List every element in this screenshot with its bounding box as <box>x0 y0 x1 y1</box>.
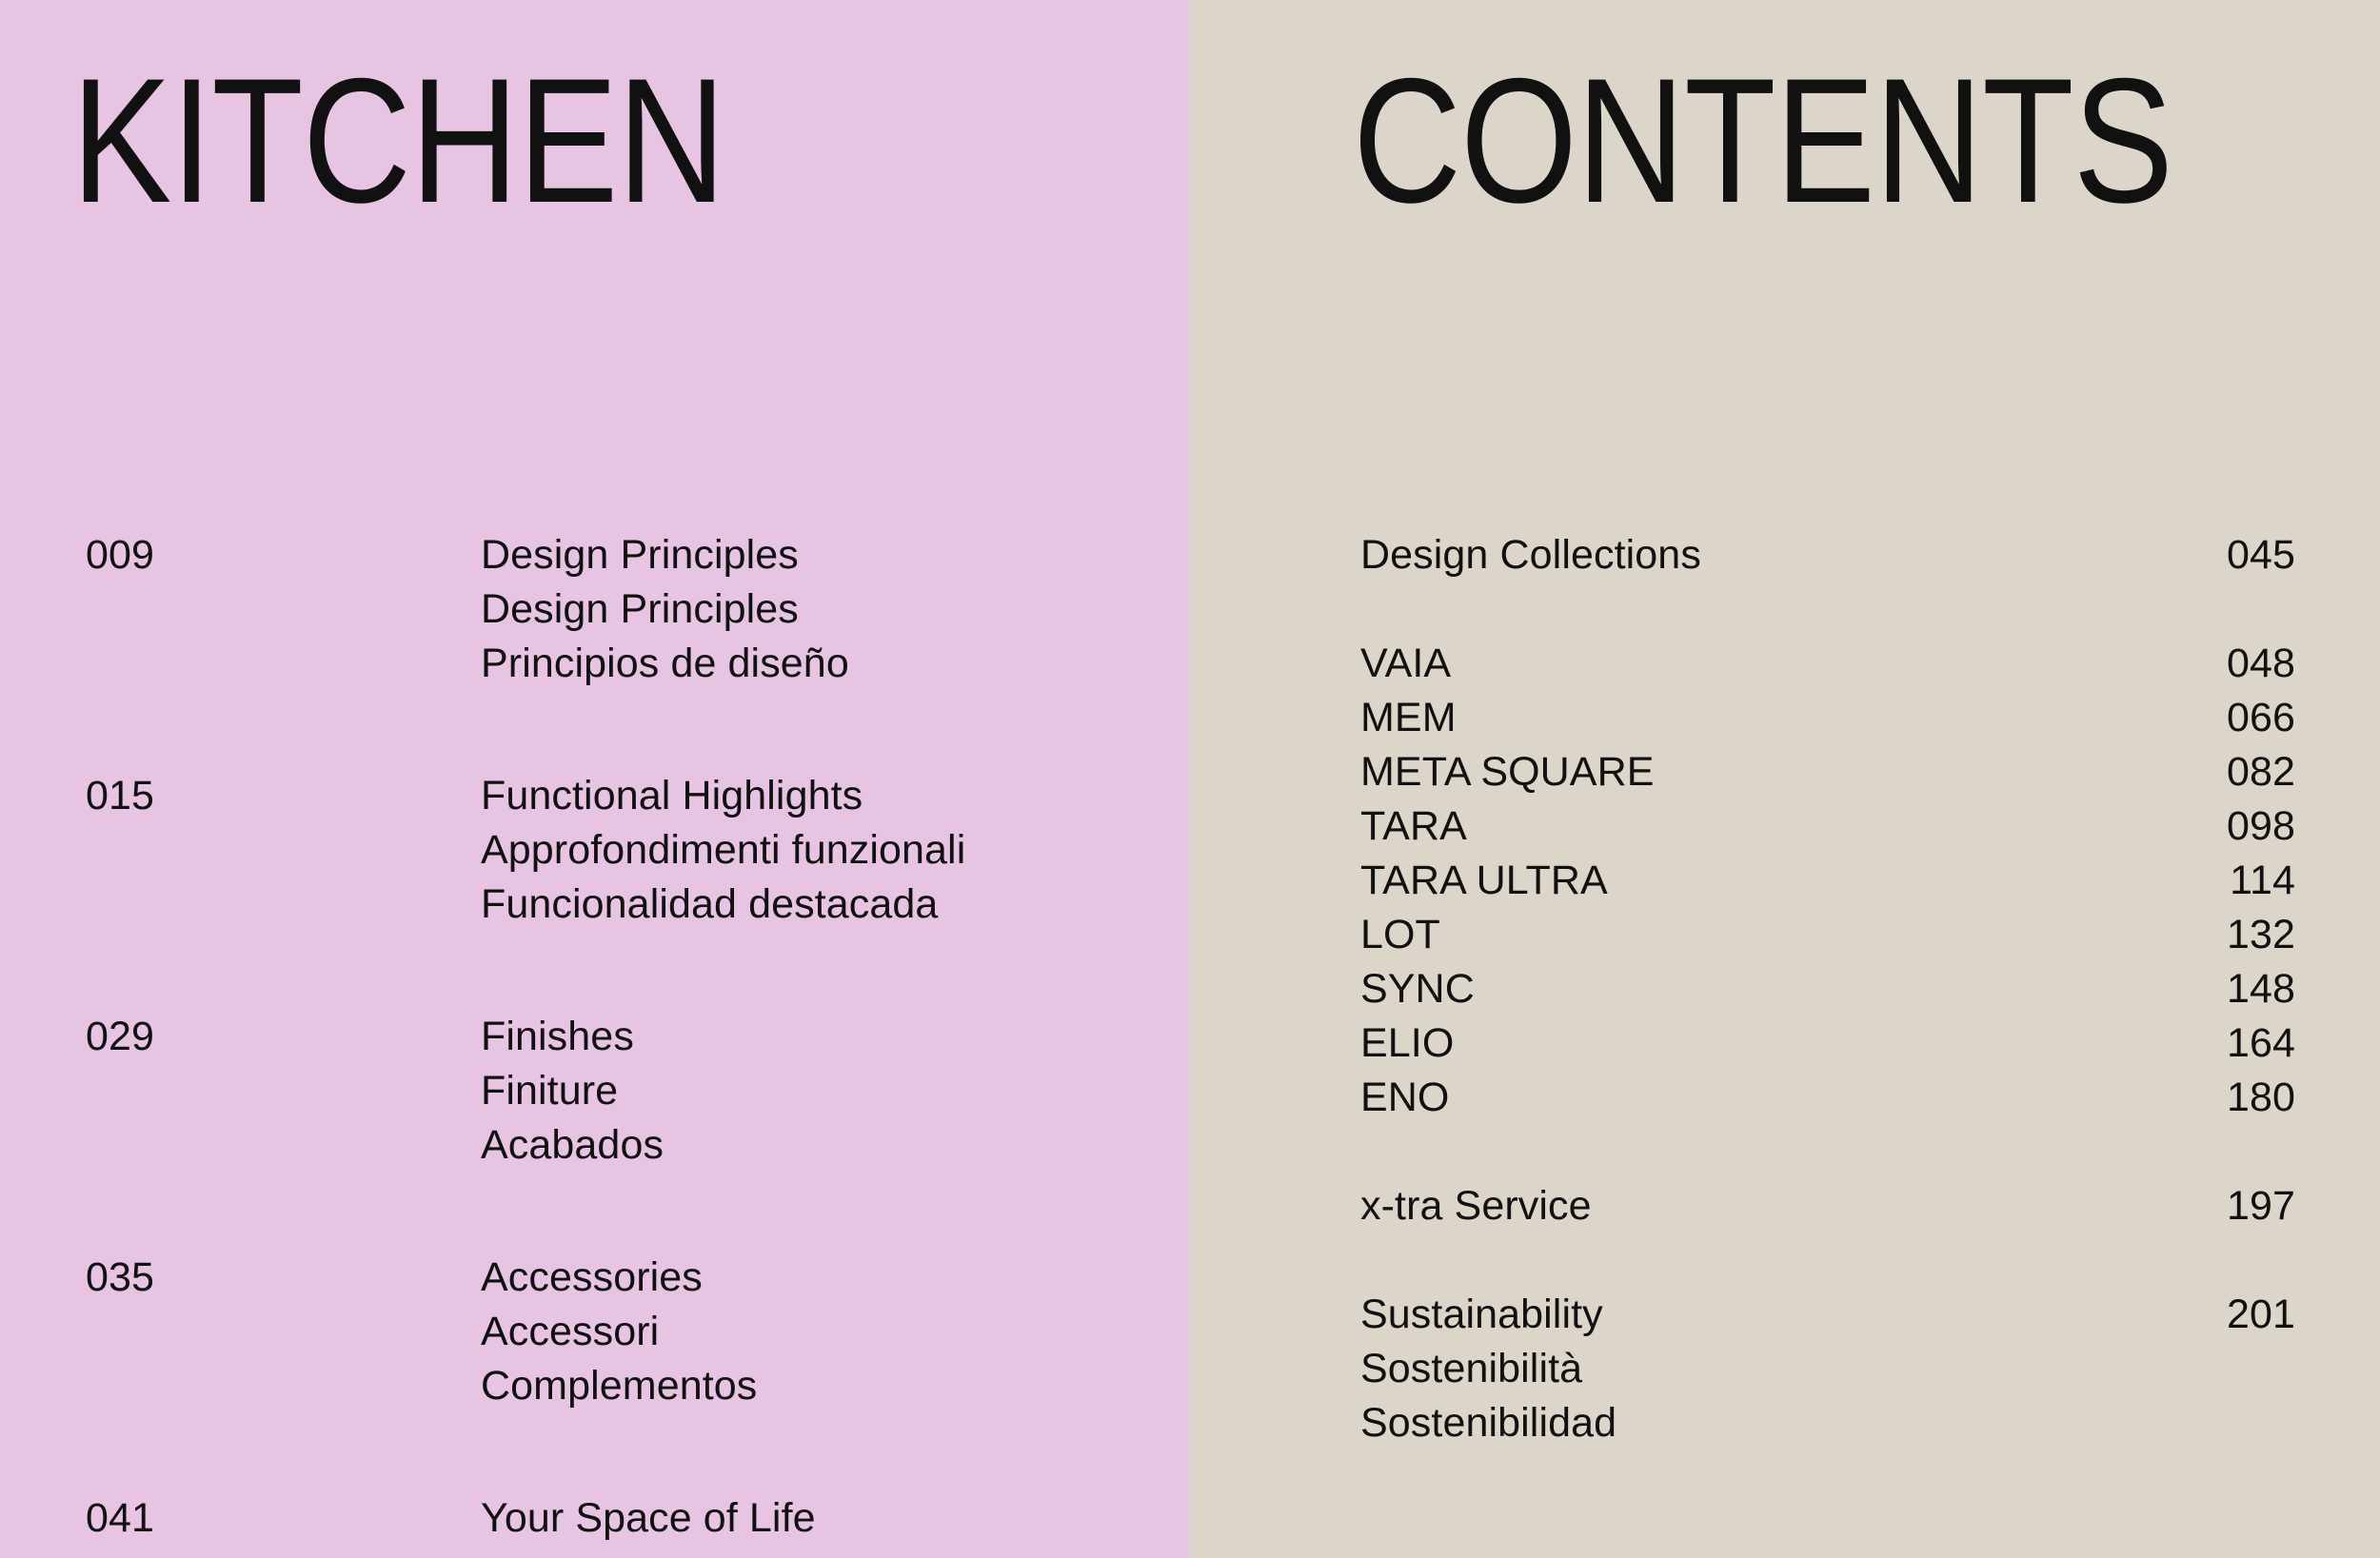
toc-group-lines: Design Principles Design Principles Prin… <box>481 528 1189 691</box>
toc-page-number: 098 <box>2227 799 2295 854</box>
toc-page-number: 114 <box>2230 854 2295 908</box>
toc-page-number: 066 <box>2227 691 2295 745</box>
toc-entry-label: Finiture <box>481 1064 1189 1118</box>
contents-spread: KITCHEN 009 Design Principles Design Pri… <box>0 0 2380 1558</box>
toc-entry-label: Sostenibilità <box>1189 1342 2380 1396</box>
page-title-contents: CONTENTS <box>1353 52 2172 229</box>
toc-entry-label: SYNC <box>1360 962 1475 1016</box>
toc-page-number: 082 <box>2227 745 2295 799</box>
toc-group[interactable]: 041 Your Space of Life <box>0 1491 1189 1546</box>
toc-entry-label: Approfondimenti funzionali <box>481 823 1189 878</box>
toc-row-collection[interactable]: TARA 098 <box>1189 799 2380 854</box>
toc-entry-label: Design Principles <box>481 582 1189 637</box>
toc-entry-label: Principios de diseño <box>481 637 1189 691</box>
toc-entry-label: Funcionalidad destacada <box>481 878 1189 932</box>
toc-entry-label: Accessories <box>481 1251 1189 1305</box>
toc-entry-label: Design Principles <box>481 528 1189 582</box>
left-toc-list: 009 Design Principles Design Principles … <box>0 528 1189 1546</box>
toc-page-number: 148 <box>2227 962 2295 1016</box>
right-toc-list: Design Collections 045 VAIA 048 MEM 066 … <box>1189 528 2380 1450</box>
toc-page-number: 132 <box>2227 908 2295 962</box>
toc-entry-label: Your Space of Life <box>481 1491 1189 1546</box>
toc-entry-label: Accessori <box>481 1305 1189 1359</box>
toc-group[interactable]: 009 Design Principles Design Principles … <box>0 528 1189 691</box>
toc-page-number: 029 <box>86 1010 154 1064</box>
toc-entry-label: Functional Highlights <box>481 769 1189 823</box>
toc-row-sustainability[interactable]: Sustainability 201 <box>1189 1288 2380 1342</box>
toc-group[interactable]: 035 Accessories Accessori Complementos <box>0 1251 1189 1413</box>
toc-entry-label: x-tra Service <box>1360 1179 1592 1233</box>
toc-page-number: 201 <box>2227 1288 2295 1342</box>
toc-group-lines: Functional Highlights Approfondimenti fu… <box>481 769 1189 932</box>
toc-group[interactable]: 015 Functional Highlights Approfondiment… <box>0 769 1189 932</box>
toc-group-lines: Your Space of Life <box>481 1491 1189 1546</box>
toc-row-xtra-service[interactable]: x-tra Service 197 <box>1189 1179 2380 1233</box>
toc-entry-label: VAIA <box>1360 637 1451 691</box>
toc-group-lines: Finishes Finiture Acabados <box>481 1010 1189 1173</box>
toc-row-collection[interactable]: TARA ULTRA 114 <box>1189 854 2380 908</box>
toc-entry-label: LOT <box>1360 908 1440 962</box>
left-panel: KITCHEN 009 Design Principles Design Pri… <box>0 0 1189 1558</box>
page-title-kitchen: KITCHEN <box>71 52 725 229</box>
toc-entry-label: Sostenibilidad <box>1189 1396 2380 1450</box>
toc-page-number: 197 <box>2227 1179 2295 1233</box>
toc-row-collection[interactable]: ENO 180 <box>1189 1071 2380 1125</box>
toc-page-number: 035 <box>86 1251 154 1305</box>
toc-row-collection[interactable]: SYNC 148 <box>1189 962 2380 1016</box>
toc-row-design-collections[interactable]: Design Collections 045 <box>1189 528 2380 582</box>
toc-entry-label: TARA ULTRA <box>1360 854 1608 908</box>
toc-page-number: 009 <box>86 528 154 582</box>
toc-row-collection[interactable]: META SQUARE 082 <box>1189 745 2380 799</box>
toc-entry-label: ENO <box>1360 1071 1449 1125</box>
spacer <box>1189 1233 2380 1288</box>
toc-entry-label: MEM <box>1360 691 1457 745</box>
toc-row-collection[interactable]: VAIA 048 <box>1189 637 2380 691</box>
toc-row-collection[interactable]: ELIO 164 <box>1189 1016 2380 1071</box>
toc-group-lines: Accessories Accessori Complementos <box>481 1251 1189 1413</box>
toc-page-number: 164 <box>2227 1016 2295 1071</box>
toc-entry-label: TARA <box>1360 799 1467 854</box>
toc-entry-label: Finishes <box>481 1010 1189 1064</box>
toc-row-collection[interactable]: LOT 132 <box>1189 908 2380 962</box>
toc-entry-label: Sustainability <box>1360 1288 1603 1342</box>
toc-entry-label: Design Collections <box>1360 528 1701 582</box>
toc-page-number: 180 <box>2227 1071 2295 1125</box>
toc-page-number: 015 <box>86 769 154 823</box>
toc-row-collection[interactable]: MEM 066 <box>1189 691 2380 745</box>
toc-entry-label: ELIO <box>1360 1016 1454 1071</box>
toc-page-number: 041 <box>86 1491 154 1546</box>
right-panel: CONTENTS Design Collections 045 VAIA 048… <box>1189 0 2380 1558</box>
toc-group[interactable]: 029 Finishes Finiture Acabados <box>0 1010 1189 1173</box>
toc-entry-label: Acabados <box>481 1118 1189 1173</box>
toc-page-number: 045 <box>2227 528 2295 582</box>
toc-entry-label: Complementos <box>481 1359 1189 1413</box>
toc-entry-label: META SQUARE <box>1360 745 1655 799</box>
spacer <box>1189 1125 2380 1179</box>
spacer <box>1189 582 2380 637</box>
toc-page-number: 048 <box>2227 637 2295 691</box>
